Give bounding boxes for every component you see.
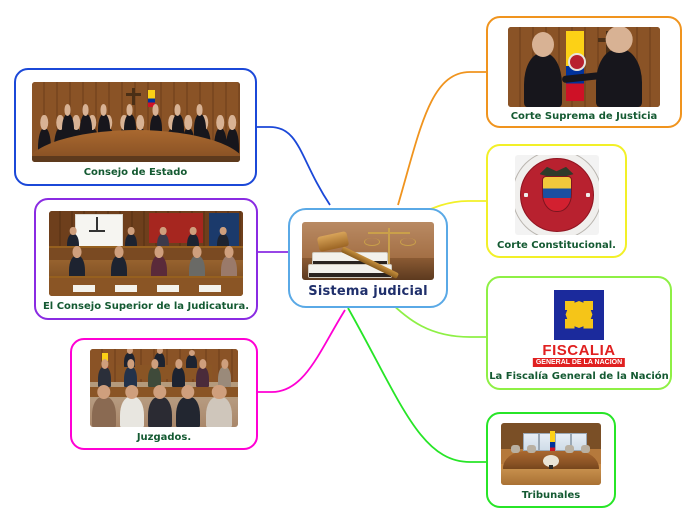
- connector-juzgados: [258, 310, 345, 392]
- node-juzgados-label: Juzgados.: [137, 432, 191, 443]
- seal-graphic: [515, 155, 599, 235]
- node-fiscalia-label: La Fiscalía General de la Nación: [489, 371, 669, 382]
- node-tribunales-label: Tribunales: [522, 490, 580, 501]
- central-node-sistema-judicial[interactable]: Sistema judicial: [288, 208, 448, 308]
- corte-suprema-judges-photo: [508, 27, 660, 107]
- node-corte-suprema-justicia[interactable]: Corte Suprema de Justicia: [486, 16, 682, 128]
- fiscalia-title: FISCALIA: [542, 342, 615, 359]
- node-tribunales[interactable]: Tribunales: [486, 412, 616, 508]
- puzzle-piece-icon: [565, 301, 593, 329]
- node-corte-constitucional-label: Corte Constitucional.: [497, 240, 616, 251]
- fiscalia-subtitle: GENERAL DE LA NACION: [533, 358, 625, 367]
- node-corte-suprema-label: Corte Suprema de Justicia: [511, 111, 658, 122]
- node-consejo-estado-label: Consejo de Estado: [84, 167, 188, 178]
- node-consejo-superior-judicatura[interactable]: El Consejo Superior de la Judicatura.: [34, 198, 258, 320]
- corte-constitucional-seal: [515, 155, 599, 235]
- tribunales-courtroom-photo: [501, 423, 601, 485]
- connector-tribunales: [348, 308, 486, 462]
- mindmap-canvas: Sistema judicial: [0, 0, 696, 520]
- connector-corte-suprema: [398, 72, 486, 205]
- juzgados-courtroom-audience-photo: [90, 349, 238, 427]
- central-node-label: Sistema judicial: [308, 285, 428, 299]
- connector-consejo-estado: [257, 127, 330, 205]
- node-fiscalia-general-nacion[interactable]: FISCALIA GENERAL DE LA NACION La Fiscalí…: [486, 276, 672, 390]
- node-consejo-estado[interactable]: Consejo de Estado: [14, 68, 257, 186]
- consejo-superior-judicatura-session-photo: [49, 211, 243, 296]
- gavel-books-scales-photo: [302, 222, 434, 280]
- node-judicatura-label: El Consejo Superior de la Judicatura.: [43, 301, 249, 312]
- consejo-de-estado-group-photo: [32, 82, 240, 162]
- node-corte-constitucional[interactable]: Corte Constitucional.: [486, 144, 627, 258]
- fiscalia-general-nacion-logo: FISCALIA GENERAL DE LA NACION: [529, 288, 629, 368]
- node-juzgados[interactable]: Juzgados.: [70, 338, 258, 450]
- fiscalia-blue-box: [554, 290, 604, 340]
